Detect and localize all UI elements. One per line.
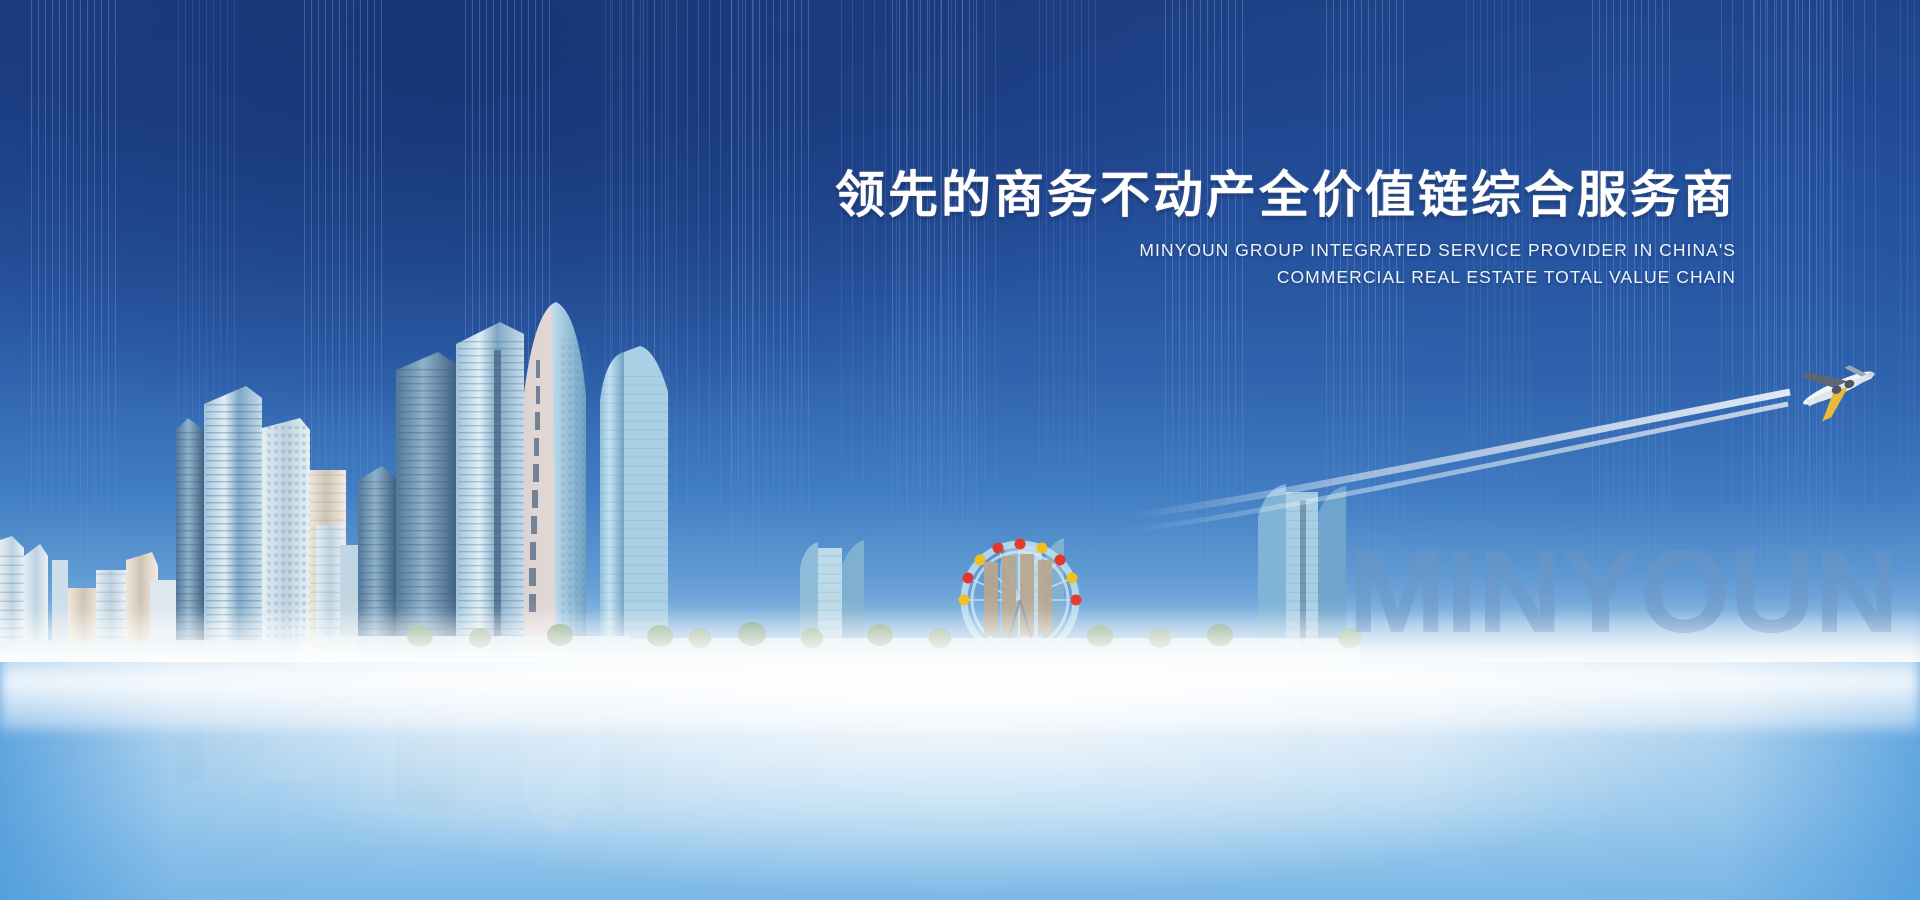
subtitle-line-1: MINYOUN GROUP INTEGRATED SERVICE PROVIDE… — [835, 237, 1736, 264]
subtitle-line-2: COMMERCIAL REAL ESTATE TOTAL VALUE CHAIN — [835, 264, 1736, 291]
page-title: 领先的商务不动产全价值链综合服务商 — [835, 168, 1736, 223]
headline-block: 领先的商务不动产全价值链综合服务商 MINYOUN GROUP INTEGRAT… — [835, 168, 1736, 291]
minyoun-watermark: MINYOUN — [1348, 533, 1898, 651]
marketing-banner: MINYOUN 领先的商务不动产全价值链综合服务商 MINYOUN — [0, 0, 1920, 900]
